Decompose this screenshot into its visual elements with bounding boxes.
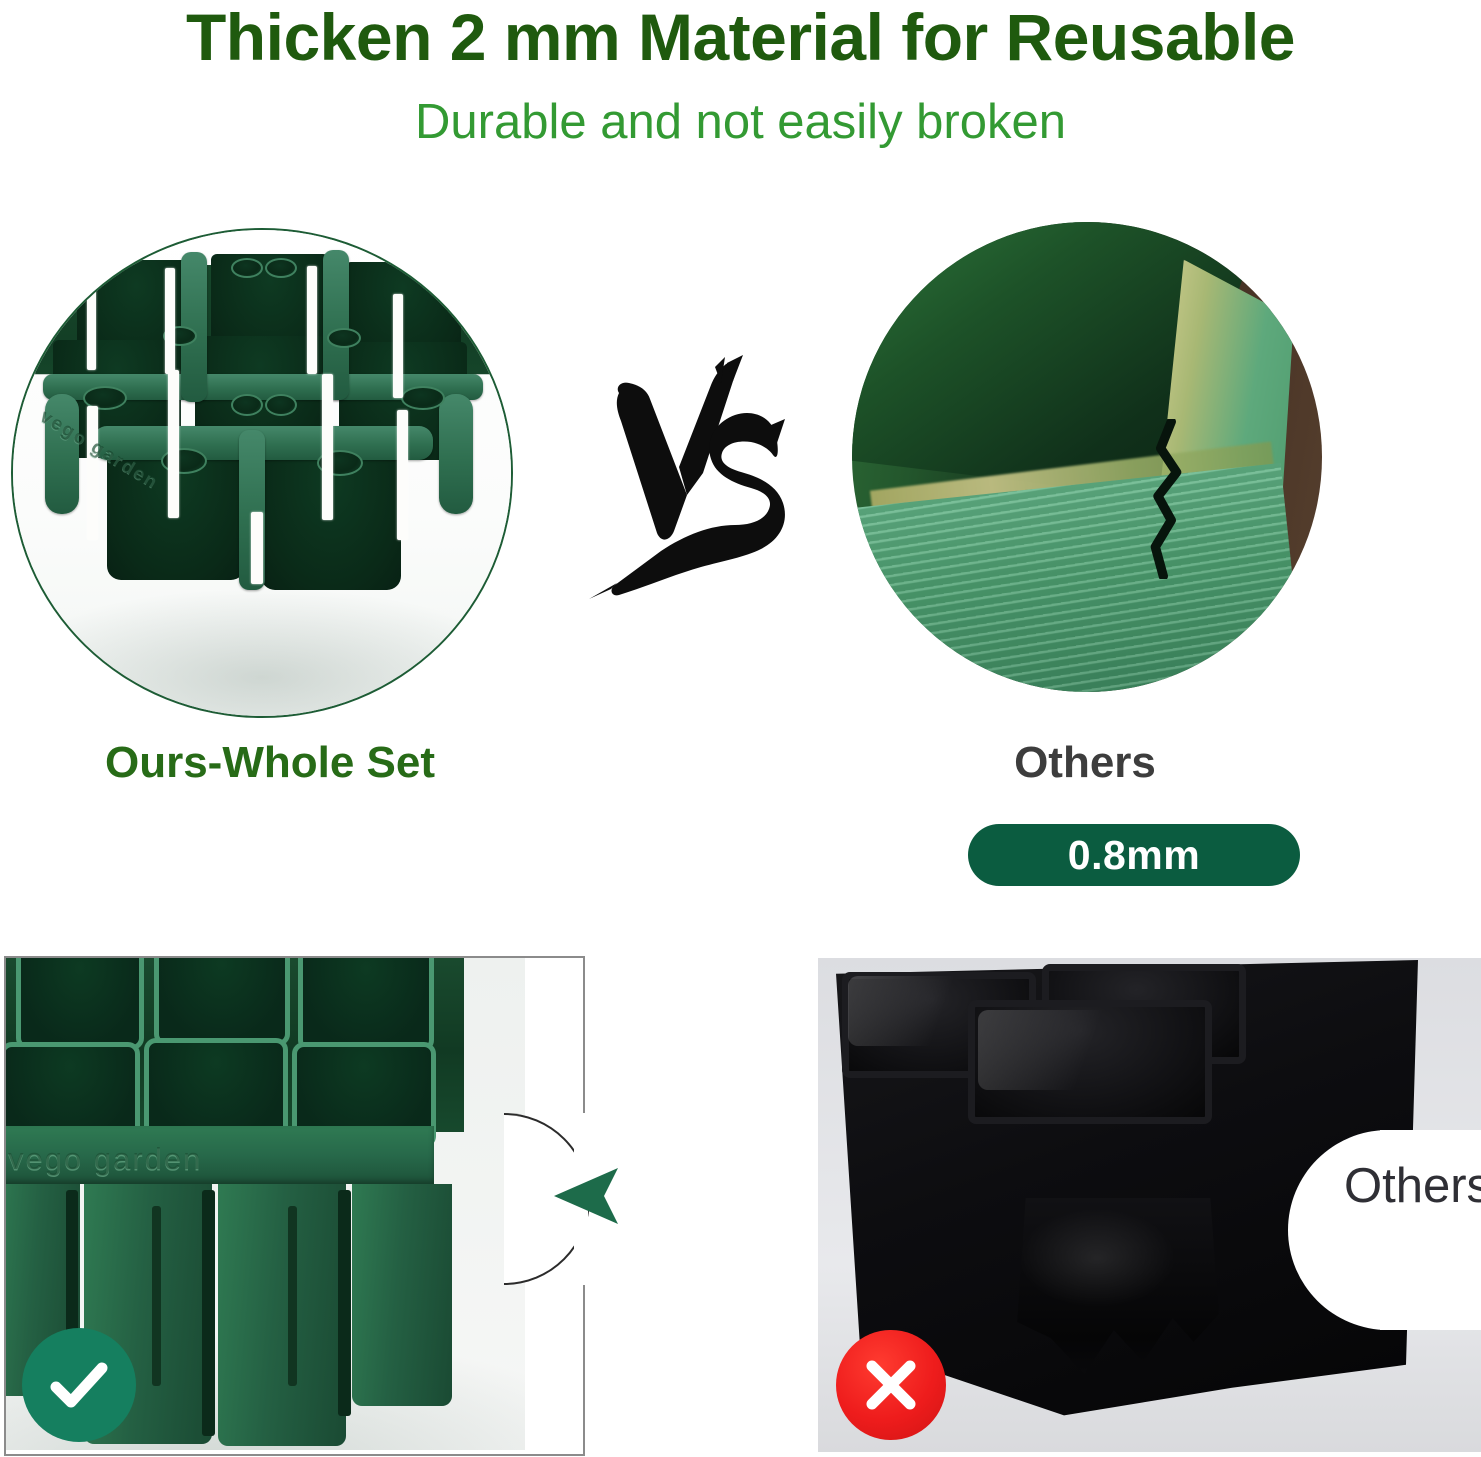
pot-groove — [338, 1190, 351, 1416]
tray-pot — [218, 1184, 346, 1446]
x-icon — [836, 1330, 946, 1440]
check-icon — [22, 1328, 136, 1442]
tray-cell — [154, 958, 290, 1046]
tray-pot — [352, 1184, 452, 1406]
tray-cell — [16, 958, 144, 1050]
pot-groove — [288, 1206, 297, 1386]
pot-groove — [202, 1190, 215, 1436]
others-bottom-label: Others — [1344, 1158, 1481, 1214]
brand-emboss: vego garden — [8, 1141, 202, 1177]
pot-groove — [152, 1206, 161, 1386]
bottom-comparison-row: vego garden — [0, 0, 1481, 1457]
tray-cell — [298, 958, 434, 1052]
tray-highlight — [978, 1010, 1178, 1090]
arrow-left-icon — [548, 1158, 624, 1234]
